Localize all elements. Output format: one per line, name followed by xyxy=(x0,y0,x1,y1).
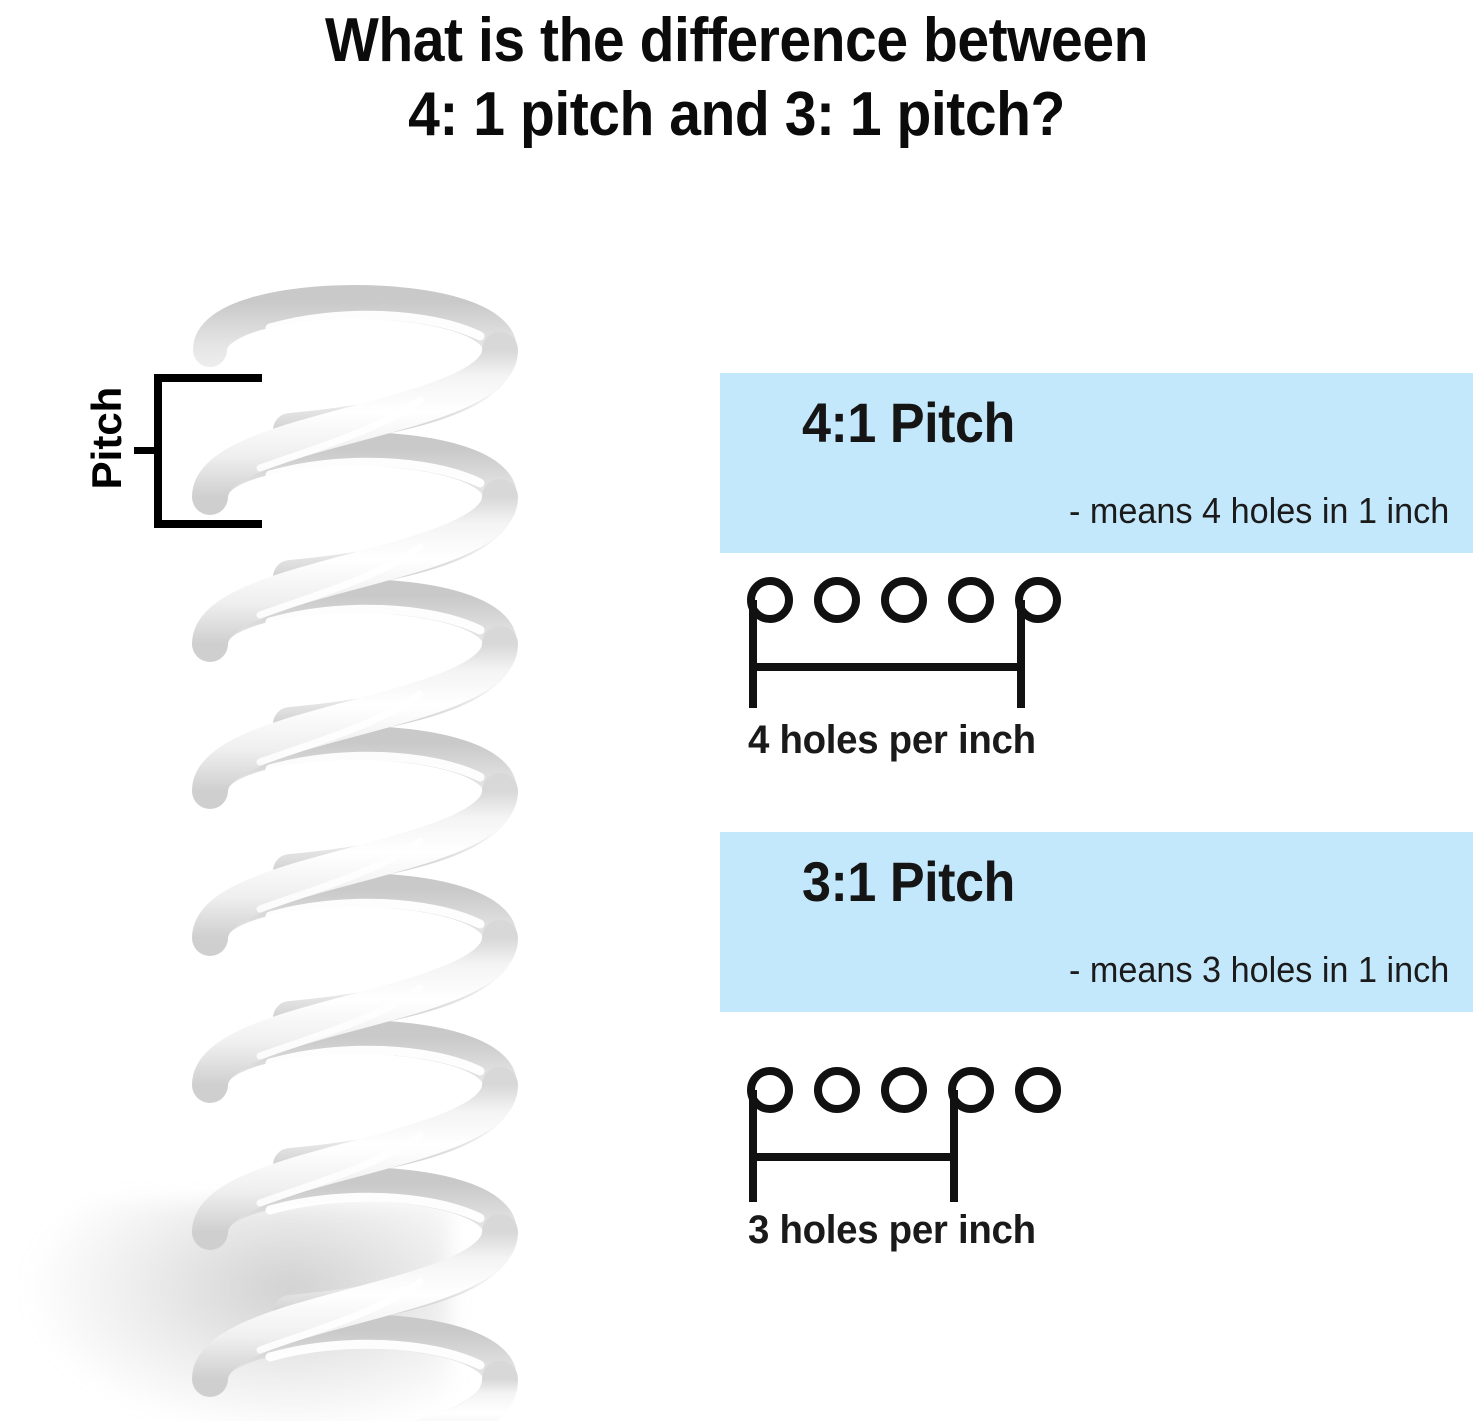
panel-subtitle-3-1: - means 3 holes in 1 inch xyxy=(1069,950,1449,990)
holes-caption-3: 3 holes per inch xyxy=(748,1208,1036,1252)
hole-circle xyxy=(1019,1071,1057,1109)
hole-circles-3 xyxy=(751,1071,1057,1109)
holes-diagram-3-per-inch: 3 holes per inch xyxy=(740,1060,1080,1270)
hole-circle xyxy=(952,581,990,619)
holes-svg-4 xyxy=(740,570,1080,715)
panel-heading-3-1: 3:1 Pitch xyxy=(802,852,1015,912)
hole-circle xyxy=(818,1071,856,1109)
hole-circles-4 xyxy=(751,581,1057,619)
hole-circle xyxy=(818,581,856,619)
panel-pitch-3-1: 3:1 Pitch - means 3 holes in 1 inch xyxy=(720,832,1473,1012)
holes-caption-4: 4 holes per inch xyxy=(748,718,1036,762)
hole-circle xyxy=(885,1071,923,1109)
holes-svg-3 xyxy=(740,1060,1080,1210)
panel-subtitle-4-1: - means 4 holes in 1 inch xyxy=(1069,491,1449,531)
infographic-canvas: What is the difference between 4: 1 pitc… xyxy=(0,0,1473,1421)
panel-heading-4-1: 4:1 Pitch xyxy=(802,393,1015,453)
panel-pitch-4-1: 4:1 Pitch - means 4 holes in 1 inch xyxy=(720,373,1473,553)
holes-diagram-4-per-inch: 4 holes per inch xyxy=(740,570,1080,780)
hole-circle xyxy=(885,581,923,619)
explanation-column: 4:1 Pitch - means 4 holes in 1 inch xyxy=(0,0,1473,1421)
